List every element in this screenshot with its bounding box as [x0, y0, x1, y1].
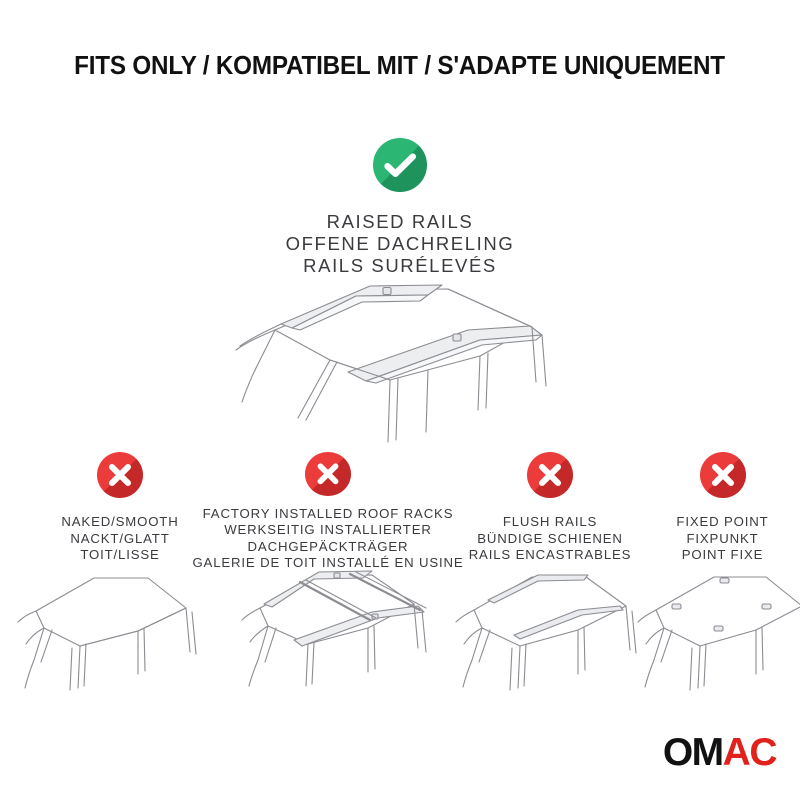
- incompatible-item-factory-rack: FACTORY INSTALLED ROOF RACKS WERKSEITIG …: [205, 452, 451, 572]
- brand-logo: OMAC: [663, 733, 776, 772]
- incompatible-label-de-2: DACHGEPÄCKTRÄGER: [192, 539, 463, 556]
- compatible-section: RAISED RAILS OFFENE DACHRELING RAILS SUR…: [0, 138, 800, 277]
- page-title-text: FITS ONLY / KOMPATIBEL MIT / S'ADAPTE UN…: [75, 52, 726, 81]
- incompatible-label-de: FIXPUNKT: [676, 531, 768, 548]
- brand-logo-ac: AC: [723, 733, 776, 772]
- car-roof-factory-rack-illustration: [222, 556, 444, 726]
- page-title: FITS ONLY / KOMPATIBEL MIT / S'ADAPTE UN…: [0, 52, 800, 81]
- incompatible-item-naked: NAKED/SMOOTH NACKT/GLATT TOIT/LISSE: [20, 452, 220, 572]
- incompatible-label-en: NAKED/SMOOTH: [61, 514, 178, 531]
- compatible-label-de: OFFENE DACHRELING: [0, 233, 800, 255]
- incompatible-section: NAKED/SMOOTH NACKT/GLATT TOIT/LISSE FACT…: [0, 452, 800, 572]
- x-circle-icon: [700, 452, 746, 498]
- x-circle-icon: [305, 452, 351, 496]
- incompatible-illustrations: [0, 556, 800, 726]
- incompatible-item-fixed-point: FIXED POINT FIXPUNKT POINT FIXE: [645, 452, 800, 572]
- incompatible-label-de: BÜNDIGE SCHIENEN: [469, 531, 632, 548]
- incompatible-label-de: NACKT/GLATT: [61, 531, 178, 548]
- check-circle-icon: [373, 138, 427, 192]
- x-circle-icon: [97, 452, 143, 498]
- car-roof-fixed-point-illustration: [630, 556, 800, 726]
- car-roof-naked-illustration: [8, 556, 208, 726]
- x-circle-icon: [527, 452, 573, 498]
- compatible-label-fr: RAILS SURÉLEVÉS: [0, 255, 800, 277]
- compatible-labels: RAISED RAILS OFFENE DACHRELING RAILS SUR…: [0, 211, 800, 277]
- car-roof-flush-rails-illustration: [442, 556, 652, 726]
- incompatible-label-en: FLUSH RAILS: [469, 514, 632, 531]
- car-roof-raised-rails-illustration: [180, 282, 620, 457]
- incompatible-item-flush-rails: FLUSH RAILS BÜNDIGE SCHIENEN RAILS ENCAS…: [455, 452, 645, 572]
- incompatible-label-en: FIXED POINT: [676, 514, 768, 531]
- brand-logo-om: OM: [663, 733, 723, 772]
- compatible-label-en: RAISED RAILS: [0, 211, 800, 233]
- incompatible-label-de-1: WERKSEITIG INSTALLIERTER: [192, 522, 463, 539]
- incompatible-label-en: FACTORY INSTALLED ROOF RACKS: [192, 506, 463, 523]
